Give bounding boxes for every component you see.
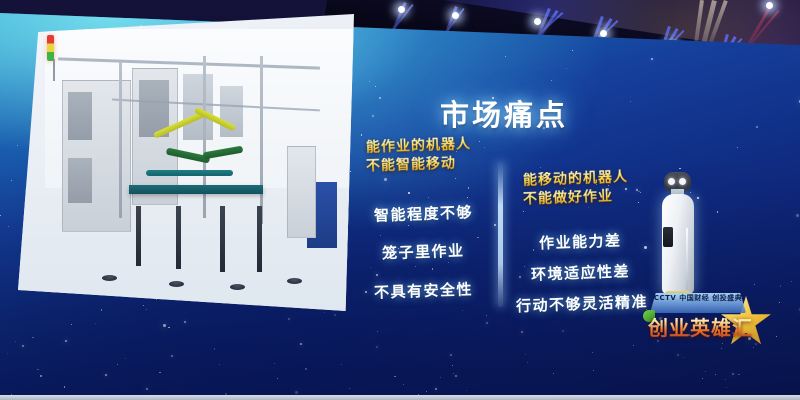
truss-lamp xyxy=(600,30,607,37)
column-left-item-1: 智能程度不够 xyxy=(374,201,474,225)
stage-scene: 市场痛点 能作业的机器人 不能智能移动 智能程度不够 笼子里作业 不具有安全性 … xyxy=(0,0,800,400)
truss-lamp xyxy=(766,2,773,9)
page-title: 市场痛点 xyxy=(440,92,568,134)
robot-arm-base-link xyxy=(146,170,233,176)
truss-lamp xyxy=(534,18,541,25)
render-table-leg-2 xyxy=(176,206,181,269)
render-contents xyxy=(18,14,354,314)
show-logo: CCTV 中国财经 创投盛典 创业英雄汇 xyxy=(648,292,770,354)
column-left-heading-line2: 不能智能移动 xyxy=(366,155,457,175)
render-table-leg-1 xyxy=(136,206,141,266)
render-cabinet-door-1 xyxy=(68,92,92,140)
render-foot-3 xyxy=(230,284,245,290)
column-right-item-1: 作业能力差 xyxy=(539,230,622,254)
logo-title: 创业英雄汇 xyxy=(648,312,752,341)
render-table-leg-3 xyxy=(220,206,225,272)
render-worktable xyxy=(129,185,263,194)
truss-lamp xyxy=(452,12,459,19)
column-left-item-2: 笼子里作业 xyxy=(382,240,465,264)
render-cabinet-3 xyxy=(287,146,316,238)
robot-body-seam xyxy=(686,228,688,290)
signal-tower-pole xyxy=(53,59,55,81)
robot-eye-right xyxy=(679,178,686,185)
column-left-item-3: 不具有安全性 xyxy=(374,278,474,302)
column-right-heading-line2: 不能做好作业 xyxy=(523,188,614,208)
robot-body xyxy=(662,194,694,294)
render-foot-1 xyxy=(102,275,117,281)
service-robot-illustration xyxy=(660,172,696,300)
render-table-leg-4 xyxy=(257,206,262,272)
industrial-render-panel xyxy=(18,14,354,314)
truss-lamp xyxy=(398,6,405,13)
column-divider xyxy=(498,162,503,307)
render-cabinet-door-2 xyxy=(68,158,92,203)
robot-eye-left xyxy=(668,178,675,185)
render-foot-4 xyxy=(287,278,302,284)
column-right-item-2: 环境适应性差 xyxy=(531,260,631,284)
screen-bottom-edge xyxy=(0,395,800,400)
logo-banner-text: CCTV 中国财经 创投盛典 xyxy=(650,294,746,302)
signal-tower-icon xyxy=(47,35,54,61)
render-post-3 xyxy=(260,56,263,224)
render-post-1 xyxy=(119,62,122,218)
robot-chest-screen xyxy=(663,227,673,247)
